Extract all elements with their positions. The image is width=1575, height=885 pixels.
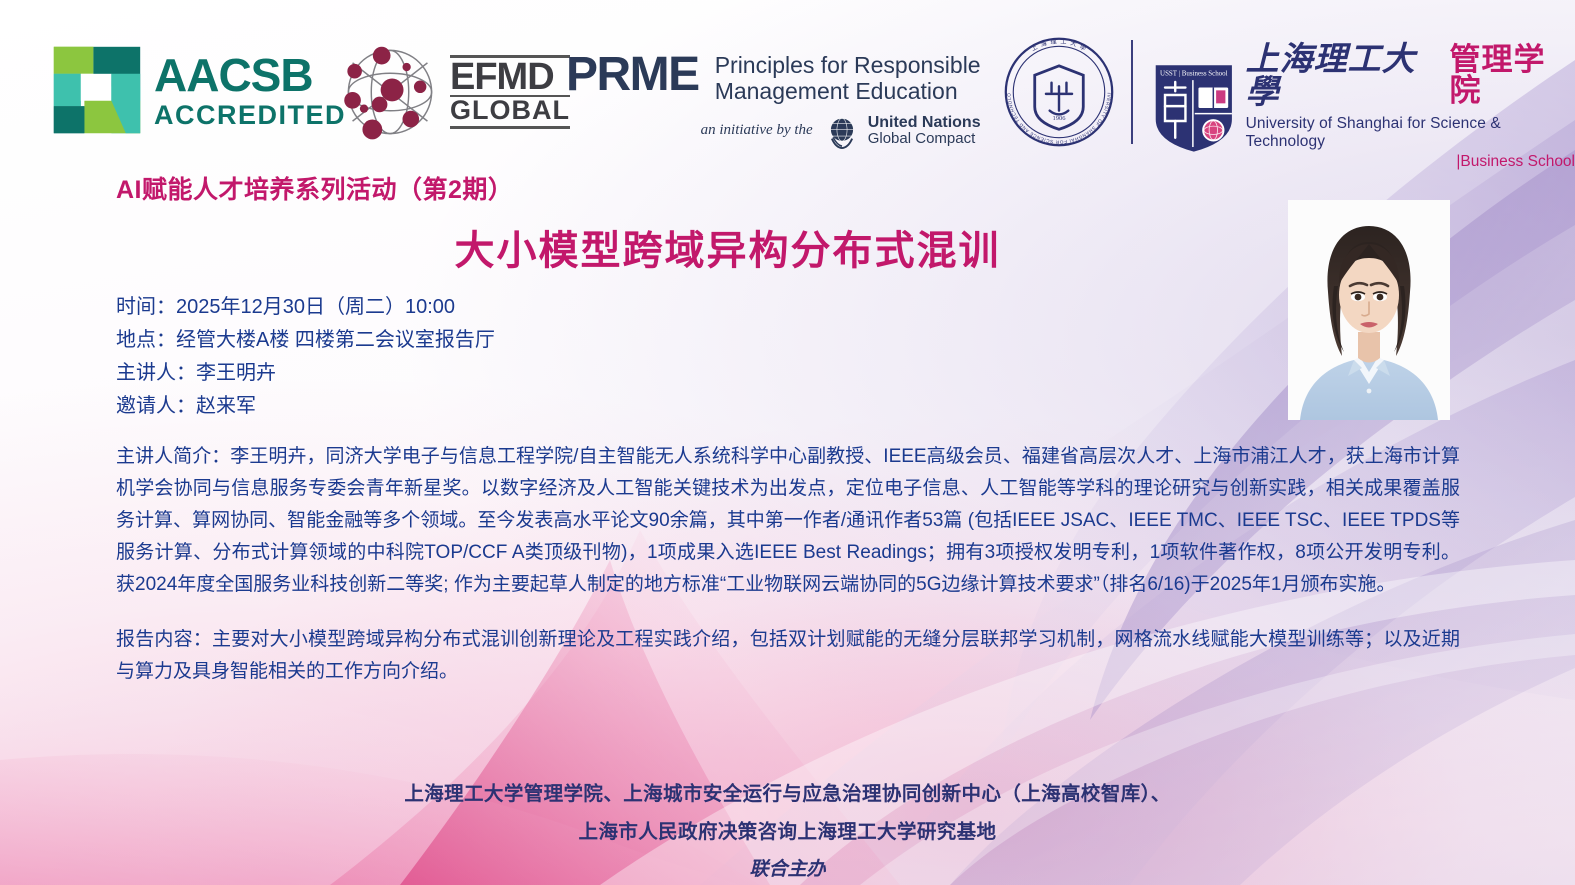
prme-wordmark: PRME [566, 52, 699, 98]
logo-divider [1131, 40, 1133, 144]
meta-label-time: 时间： [116, 296, 176, 318]
un-global-compact-lockup: an initiative by the United Na [566, 112, 981, 150]
speaker-portrait-image [1288, 200, 1450, 420]
un-line1: United Nations [868, 114, 981, 132]
meta-value-host: 赵来军 [196, 395, 256, 417]
logo-usst-business-school: USST | Business School [1152, 44, 1575, 171]
meta-label-speaker: 主讲人： [116, 362, 196, 384]
prme-initiative-note: an initiative by the [701, 122, 813, 139]
meta-value-speaker: 李王明卉 [196, 362, 276, 384]
meta-row-time: 时间：2025年12月30日（周二）10:00 [116, 291, 495, 324]
aacsb-mark-icon [52, 44, 142, 136]
efmd-global-label: GLOBAL [450, 97, 570, 129]
abstract-paragraph: 报告内容：主要对大小模型跨域异构分布式混训创新理论及工程实践介绍，包括双计划赋能… [116, 624, 1460, 688]
organizer-line-3: 联合主办 [0, 851, 1575, 885]
usst-seal-icon: 1906 上 海 理 工 大 學 UNIVERSITY OF SHANGHAI … [1003, 36, 1115, 148]
bschool-en-school: |Business School [1246, 153, 1575, 171]
aacsb-wordmark: AACSB [154, 52, 346, 98]
bschool-cn-university: 上海理工大學 [1246, 44, 1446, 110]
bschool-en-university: University of Shanghai for Science & Tec… [1246, 115, 1575, 151]
meta-value-place: 经管大楼A楼 四楼第二会议室报告厅 [176, 329, 495, 351]
accreditation-logo-bar: AACSB ACCREDITED [0, 0, 1575, 158]
svg-text:1906: 1906 [1052, 115, 1066, 122]
logo-prme: PRME Principles for Responsible Manageme… [566, 52, 981, 150]
logo-usst-seal: 1906 上 海 理 工 大 學 UNIVERSITY OF SHANGHAI … [1003, 36, 1115, 148]
meta-row-place: 地点：经管大楼A楼 四楼第二会议室报告厅 [116, 324, 495, 357]
organizer-line-2: 上海市人民政府决策咨询上海理工大学研究基地 [0, 813, 1575, 851]
prme-tagline: Principles for Responsible Management Ed… [715, 52, 981, 105]
speaker-portrait [1288, 200, 1450, 420]
meta-value-time: 2025年12月30日（周二）10:00 [176, 296, 455, 318]
logo-aacsb: AACSB ACCREDITED [52, 44, 346, 136]
organizers-footer: 上海理工大学管理学院、上海城市安全运行与应急治理协同创新中心（上海高校智库）、 … [0, 775, 1575, 885]
meta-row-host: 邀请人：赵来军 [116, 390, 495, 423]
organizer-line-1: 上海理工大学管理学院、上海城市安全运行与应急治理协同创新中心（上海高校智库）、 [0, 775, 1575, 813]
business-school-shield-icon: USST | Business School [1152, 61, 1236, 155]
speaker-bio-paragraph: 主讲人简介：李王明卉，同济大学电子与信息工程学院/自主智能无人系统科学中心副教授… [116, 441, 1460, 601]
efmd-network-icon [338, 40, 442, 144]
meta-label-host: 邀请人： [116, 395, 196, 417]
aacsb-accredited-label: ACCREDITED [154, 102, 346, 129]
un-globe-icon [823, 112, 861, 150]
svg-text:USST | Business School: USST | Business School [1160, 69, 1228, 77]
meta-row-speaker: 主讲人：李王明卉 [116, 357, 495, 390]
un-line2: Global Compact [868, 131, 981, 148]
logo-efmd: EFMD GLOBAL [338, 40, 570, 144]
meta-label-place: 地点： [116, 329, 176, 351]
poster-root: AACSB ACCREDITED [0, 0, 1575, 885]
bschool-cn-school: 管理学院 [1450, 44, 1575, 106]
efmd-wordmark: EFMD [450, 55, 570, 97]
prme-tagline-line2: Management Education [715, 78, 958, 104]
event-meta: 时间：2025年12月30日（周二）10:00 地点：经管大楼A楼 四楼第二会议… [116, 291, 495, 423]
series-title: AI赋能人才培养系列活动（第2期） [116, 170, 513, 206]
prme-tagline-line1: Principles for Responsible [715, 52, 981, 78]
